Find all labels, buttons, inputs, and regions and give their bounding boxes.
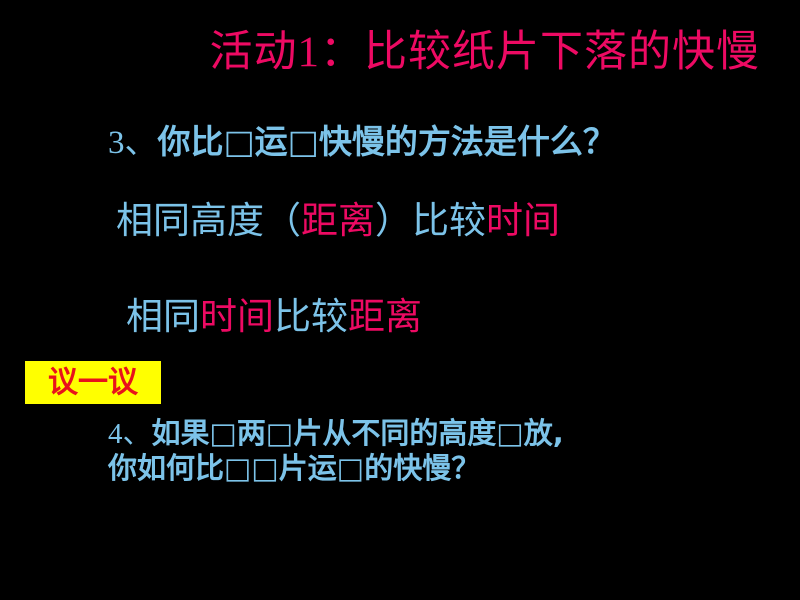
- answer-1-segment-1: 相同高度（: [116, 201, 301, 242]
- answer-2-segment-2: 时间: [200, 297, 274, 338]
- discuss-label: 议一议: [48, 368, 138, 398]
- question-4-number: 4、: [108, 418, 152, 450]
- question-3-number: 3、: [108, 125, 158, 161]
- question-4-line-1: 4、如果□两□片从不同的高度□放,: [108, 416, 564, 451]
- answer-line-1: 相同高度（距离）比较时间: [116, 200, 560, 244]
- slide-canvas: 活动1：比较纸片下落的快慢 3、你比□运□快慢的方法是什么？ 相同高度（距离）比…: [0, 0, 800, 600]
- answer-line-2: 相同时间比较距离: [126, 296, 422, 340]
- answer-2-segment-4: 距离: [348, 297, 422, 338]
- question-4: 4、如果□两□片从不同的高度□放, 你如何比□□片运□的快慢？: [108, 416, 564, 485]
- question-3-text: 你比□运□快慢的方法是什么？: [158, 122, 616, 161]
- answer-2-segment-3: 比较: [274, 297, 348, 338]
- answer-1-segment-4: 时间: [486, 201, 560, 242]
- answer-1-segment-2: 距离: [301, 201, 375, 242]
- question-4-line-2: 你如何比□□片运□的快慢？: [108, 451, 564, 485]
- slide-title: 活动1：比较纸片下落的快慢: [0, 26, 760, 80]
- answer-1-segment-3: ）比较: [375, 201, 486, 242]
- question-4-text-line-1: 如果□两□片从不同的高度□放,: [152, 416, 564, 450]
- answer-2-segment-1: 相同: [126, 297, 200, 338]
- discuss-highlight-box: 议一议: [25, 361, 161, 404]
- question-3: 3、你比□运□快慢的方法是什么？: [108, 122, 616, 164]
